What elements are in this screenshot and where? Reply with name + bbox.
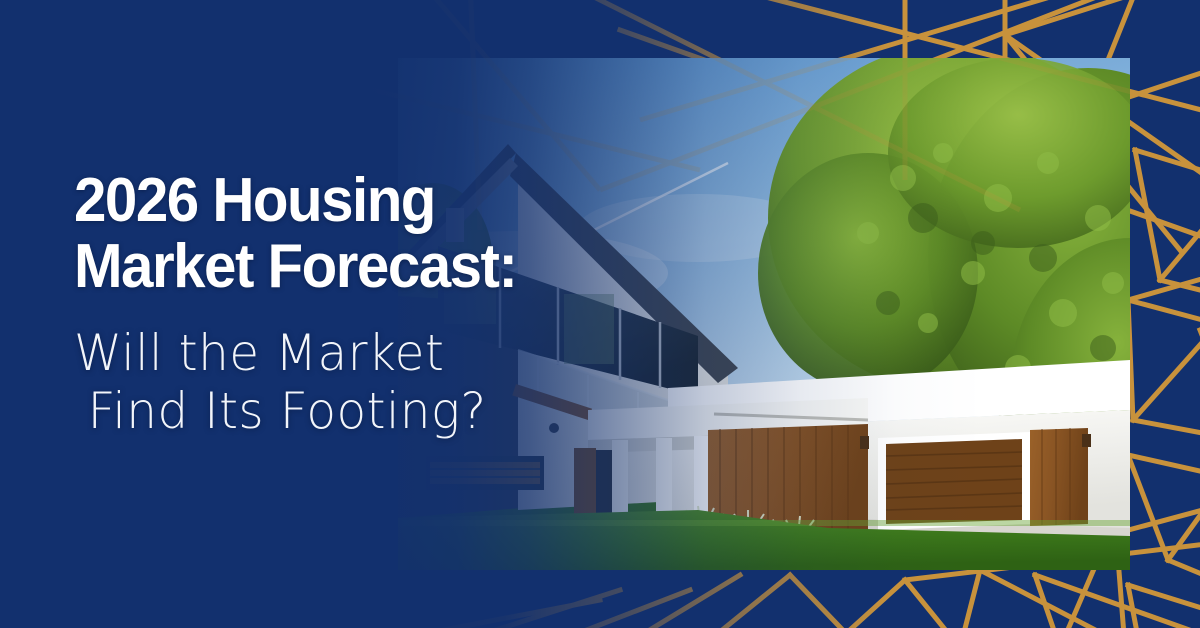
banner-root: 2026 Housing Market Forecast: Will the M… [0,0,1200,628]
headline-line-1: 2026 Housing [74,168,638,234]
subheadline: Will the Market Find Its Footing? [74,324,656,440]
subheadline-line-1: Will the Market [74,324,444,382]
text-block: 2026 Housing Market Forecast: Will the M… [74,168,674,440]
subheadline-line-2: Find Its Footing? [74,382,656,440]
headline: 2026 Housing Market Forecast: [74,168,638,300]
headline-line-2: Market Forecast: [74,234,638,300]
